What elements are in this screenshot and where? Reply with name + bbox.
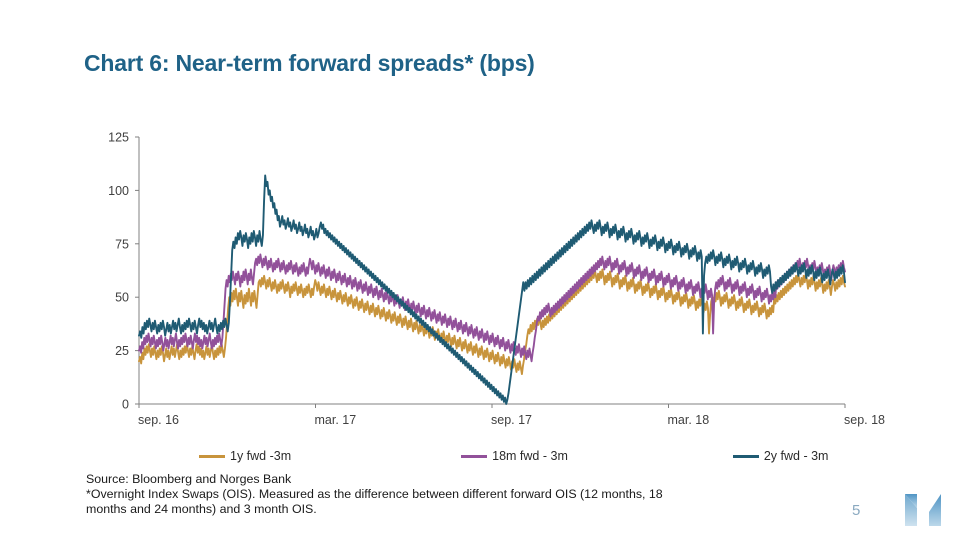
legend-swatch-1y-fwd-3m (199, 455, 225, 458)
chart-series-group (139, 175, 845, 404)
x-axis-ticks: sep. 16mar. 17sep. 17mar. 18sep. 18 (138, 404, 885, 427)
page-title: Chart 6: Near-term forward spreads* (bps… (84, 50, 535, 77)
slide-canvas: Chart 6: Near-term forward spreads* (bps… (0, 0, 960, 540)
legend-swatch-2y-fwd-3m (733, 455, 759, 458)
x-tick-label: sep. 18 (844, 413, 885, 427)
footnote-definition: *Overnight Index Swaps (OIS). Measured a… (86, 487, 686, 517)
chart-container: 0255075100125 sep. 16mar. 17sep. 17mar. … (0, 110, 900, 460)
footnote-source: Source: Bloomberg and Norges Bank (86, 472, 686, 487)
chart-legend: 1y fwd -3m 18m fwd - 3m 2y fwd - 3m (139, 446, 845, 466)
legend-item-18m-fwd-3m[interactable]: 18m fwd - 3m (461, 449, 568, 463)
legend-item-1y-fwd-3m[interactable]: 1y fwd -3m (199, 449, 291, 463)
y-axis-ticks: 0255075100125 (108, 131, 139, 412)
legend-label-18m-fwd-3m: 18m fwd - 3m (492, 449, 568, 463)
x-tick-label: sep. 16 (138, 413, 179, 427)
legend-label-1y-fwd-3m: 1y fwd -3m (230, 449, 291, 463)
y-tick-label: 0 (122, 398, 129, 412)
y-tick-label: 25 (115, 344, 129, 358)
legend-label-2y-fwd-3m: 2y fwd - 3m (764, 449, 829, 463)
x-tick-label: sep. 17 (491, 413, 532, 427)
legend-item-2y-fwd-3m[interactable]: 2y fwd - 3m (733, 449, 829, 463)
line-chart: 0255075100125 sep. 16mar. 17sep. 17mar. … (0, 110, 900, 460)
y-tick-label: 50 (115, 291, 129, 305)
page-number: 5 (852, 502, 860, 519)
legend-swatch-18m-fwd-3m (461, 455, 487, 458)
y-tick-label: 125 (108, 131, 129, 145)
footnote: Source: Bloomberg and Norges Bank *Overn… (86, 472, 686, 518)
y-tick-label: 75 (115, 237, 129, 251)
x-tick-label: mar. 17 (315, 413, 357, 427)
norges-bank-logo (902, 492, 944, 530)
x-tick-label: mar. 18 (668, 413, 710, 427)
y-tick-label: 100 (108, 184, 129, 198)
